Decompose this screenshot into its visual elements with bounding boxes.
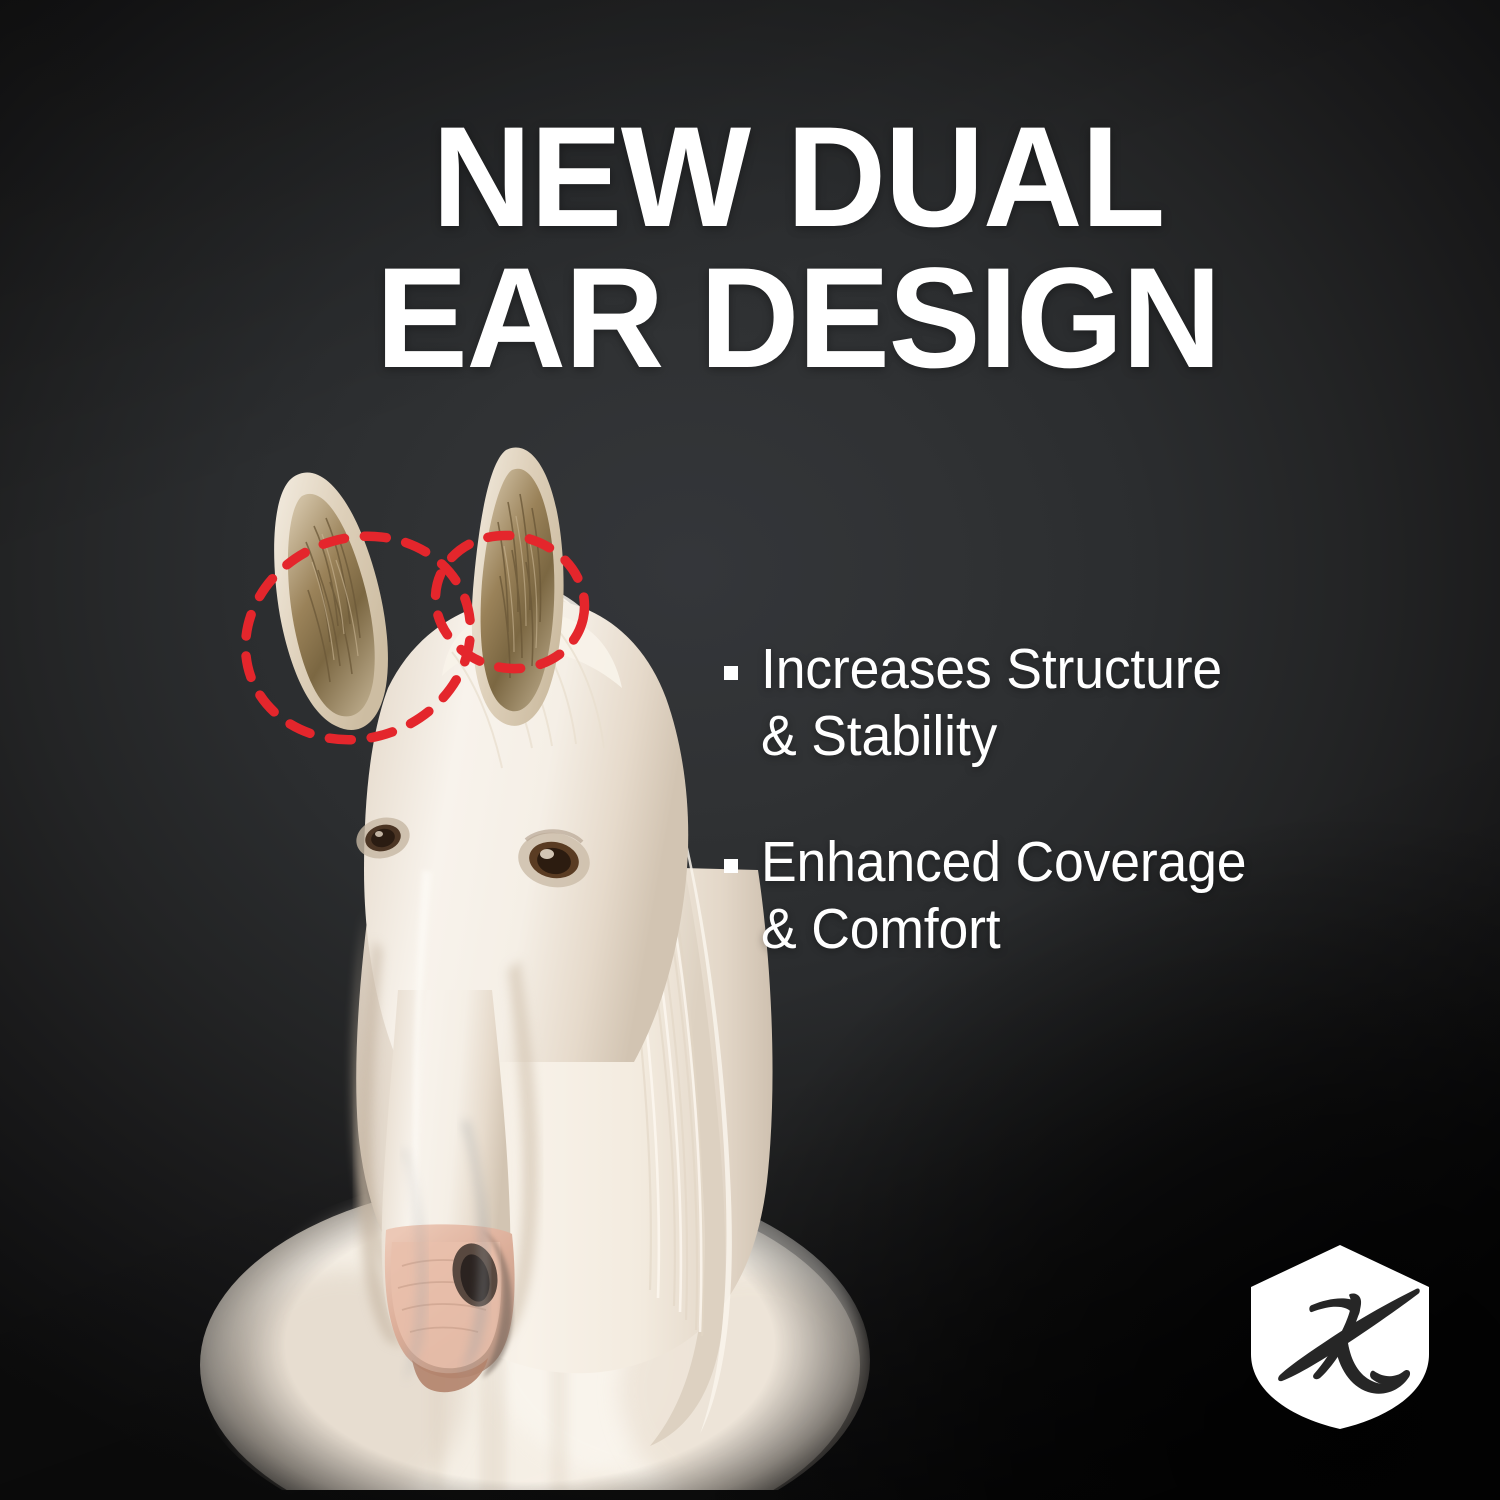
headline-line-1: NEW DUAL	[344, 108, 1251, 249]
shield-k-logo-icon	[1246, 1242, 1434, 1432]
horse-right-ear	[472, 448, 564, 726]
headline-line-2: EAR DESIGN	[344, 249, 1251, 390]
feature-label: Enhanced Coverage & Comfort	[761, 829, 1246, 962]
horse-left-ear	[274, 473, 388, 730]
feature-list: Increases Structure & Stability Enhanced…	[724, 636, 1414, 963]
square-bullet-icon	[724, 859, 738, 873]
marketing-banner: NEW DUAL EAR DESIGN Increases Structure …	[0, 0, 1500, 1500]
list-item: Enhanced Coverage & Comfort	[724, 829, 1414, 962]
list-item: Increases Structure & Stability	[724, 636, 1414, 769]
brand-logo	[1246, 1242, 1434, 1432]
feature-label: Increases Structure & Stability	[761, 636, 1222, 769]
square-bullet-icon	[724, 666, 738, 680]
page-title: NEW DUAL EAR DESIGN	[344, 108, 1251, 390]
